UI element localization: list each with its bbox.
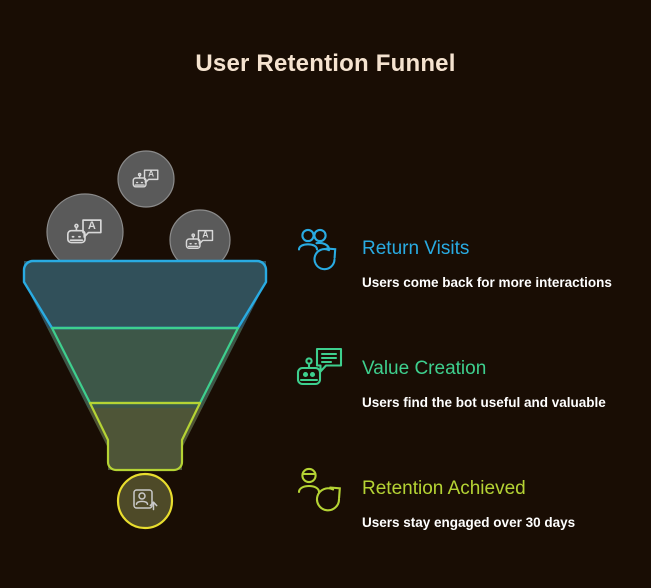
funnel-stage-1-fill — [0, 255, 290, 328]
legend-description: Users find the bot useful and valuable — [362, 395, 606, 410]
funnel-stage-3-fill — [0, 408, 290, 478]
funnel-stage-2-fill — [0, 328, 290, 408]
funnel-output-node — [118, 474, 172, 528]
legend-item-value-creation[interactable]: Value Creation Users find the bot useful… — [296, 342, 646, 462]
legend-title: Retention Achieved — [362, 478, 526, 500]
legend-description: Users come back for more interactions — [362, 275, 612, 290]
legend-item-retention-achieved[interactable]: Retention Achieved Users stay engaged ov… — [296, 462, 646, 582]
funnel-fills — [0, 255, 290, 478]
users-refresh-icon — [296, 226, 350, 276]
bot-chat-icon — [296, 346, 350, 396]
svg-text:A: A — [202, 230, 209, 240]
funnel-legend: Return Visits Users come back for more i… — [296, 222, 646, 582]
legend-title: Return Visits — [362, 238, 469, 260]
legend-title: Value Creation — [362, 358, 486, 380]
svg-text:A: A — [88, 220, 96, 232]
funnel-diagram: A A A — [0, 130, 290, 550]
funnel-svg: A A A — [0, 130, 290, 550]
svg-text:A: A — [148, 170, 154, 179]
legend-item-return-visits[interactable]: Return Visits Users come back for more i… — [296, 222, 646, 342]
page-title: User Retention Funnel — [0, 50, 651, 78]
legend-description: Users stay engaged over 30 days — [362, 515, 575, 530]
input-token-group: A A A — [47, 151, 230, 270]
person-refresh-icon — [296, 466, 350, 516]
